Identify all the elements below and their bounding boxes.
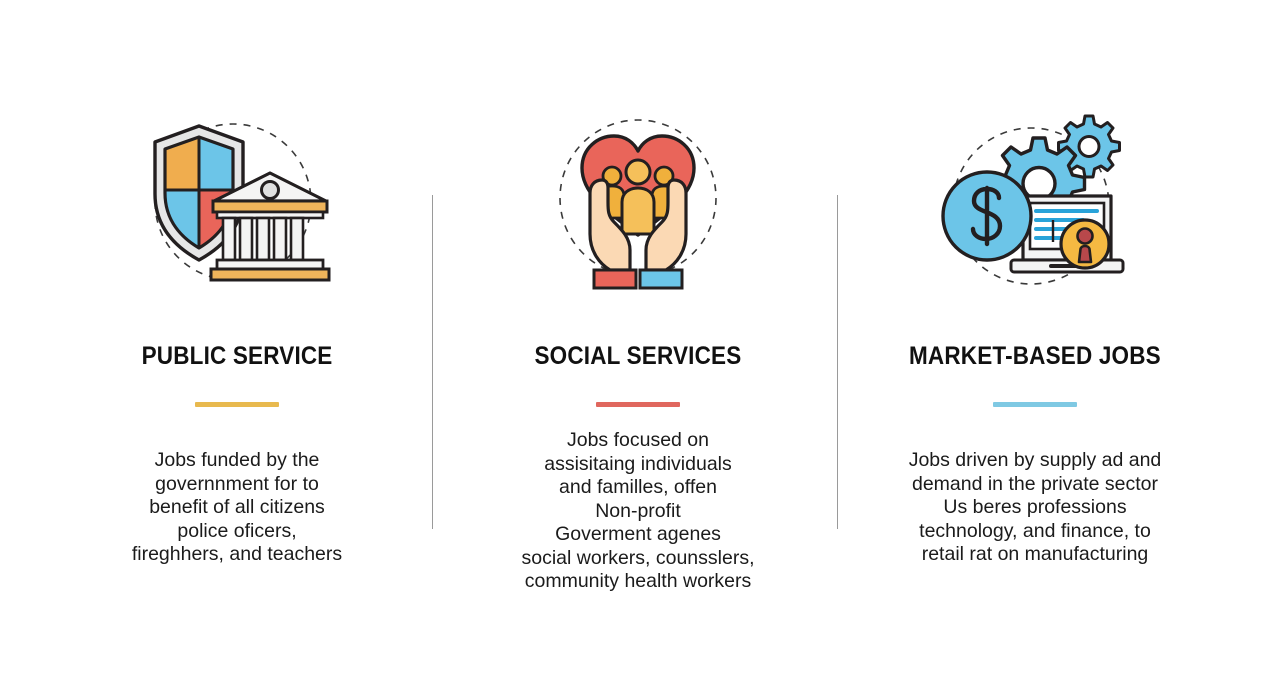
card-market-based-jobs: MARKET-BASED JOBS Jobs driven by supply …: [865, 110, 1205, 567]
accent-bar-public-service: [195, 402, 279, 407]
card-public-service: PUBLIC SERVICE Jobs funded by the govern…: [67, 110, 407, 567]
card-body-market-based-jobs: Jobs driven by supply ad and demand in t…: [870, 449, 1200, 567]
infographic-canvas: PUBLIC SERVICE Jobs funded by the govern…: [0, 0, 1280, 698]
card-body-public-service: Jobs funded by the governnment for to be…: [72, 449, 402, 567]
column-divider-2: [837, 195, 838, 529]
card-title-social-services: SOCIAL SERVICES: [535, 342, 742, 371]
column-divider-1: [432, 195, 433, 529]
accent-bar-market-based-jobs: [993, 402, 1077, 407]
card-body-social-services: Jobs focused on assisitaing individuals …: [473, 429, 803, 594]
shield-and-government-building-icon: [137, 110, 337, 300]
hands-holding-heart-with-family-icon: [538, 110, 738, 300]
card-title-public-service: PUBLIC SERVICE: [142, 342, 333, 371]
card-title-market-based-jobs: MARKET-BASED JOBS: [909, 342, 1161, 371]
card-social-services: SOCIAL SERVICES Jobs focused on assisita…: [468, 110, 808, 594]
accent-bar-social-services: [596, 402, 680, 407]
dollar-coin-gears-and-laptop-icon: [935, 110, 1135, 300]
